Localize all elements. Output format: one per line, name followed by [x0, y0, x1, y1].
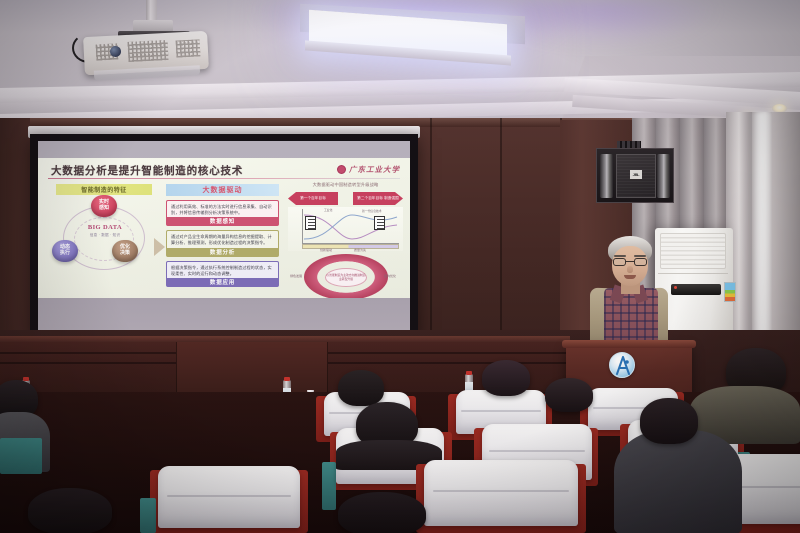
big-data-center-label: BIG DATA	[76, 224, 134, 231]
slide-divider	[48, 178, 400, 179]
ac-display-panel[interactable]	[671, 284, 721, 295]
ring-label: 创新驱动	[320, 248, 332, 252]
audience-seat	[424, 460, 578, 526]
projector-mount-pole	[146, 0, 157, 22]
bottle-cap-icon	[466, 371, 472, 375]
ceiling-glow-secondary	[520, 0, 720, 48]
chart-doc-icon-right	[374, 216, 385, 230]
cycle-node-dynamic-execution: 动态执行	[52, 240, 78, 262]
presentation-slide: 大数据分析是提升智能制造的核心技术 广东工业大学 智能制造的特征 实时感知 优化…	[38, 158, 410, 310]
slide-box-label: 数据感知	[167, 217, 278, 225]
slide-box-text: 根据决策指令，通过执行系统控制制造过程的状态，实现柔性、实时的运行和动态调整。	[171, 265, 274, 277]
big-data-center-sublabel: 信息 · 数据 · 知识	[76, 233, 134, 238]
projector-vent-icon	[176, 39, 201, 57]
conference-hall-photo: JBL 大数据分析是提升智能制造的核心技术 广东工业大学 智能制造的特征	[0, 0, 800, 533]
audience-seat	[158, 466, 300, 528]
audience-head	[28, 488, 112, 533]
slide-box-label: 数据应用	[167, 278, 278, 286]
slide-box-data-application: 根据决策指令，通过执行系统控制制造过程的状态，实现柔性、实时的运行和动态调整。 …	[166, 261, 279, 287]
glasses-lens-right	[634, 258, 647, 266]
slide-right-column: 大数据驱动中国制造转型升级战略 第一个百年目标 第二个百年目标 制造强国	[288, 182, 403, 304]
bottle-cap-icon	[284, 377, 290, 381]
projector-vent-icon	[128, 40, 169, 62]
chart-note-right: 新一代信息技术	[362, 209, 382, 213]
strategy-ring-center: 以智能制造为主攻方向推进制造业转型升级	[325, 268, 367, 287]
seat-frame-accent	[322, 462, 336, 510]
presenter	[580, 236, 678, 354]
slide-box-data-sensing: 通过利用高效、标准的方法实时进行信息采集、自动识别，并将信息传输到分析决策系统中…	[166, 200, 279, 226]
university-seal-icon	[337, 165, 346, 174]
dais-center-panel	[176, 342, 328, 396]
slide-logo-text: 广东工业大学	[349, 164, 400, 175]
slide-box-label: 数据分析	[167, 248, 278, 256]
speaker-brand-badge: JBL	[630, 170, 642, 179]
slide-mid-header: 大数据驱动	[166, 184, 279, 196]
slide-left-column: 智能制造的特征 实时感知 优化决策 动态执行 BIG DATA 信息 · 数据 …	[50, 184, 158, 302]
presenter-brow-right	[634, 255, 646, 257]
seat-frame-accent	[0, 438, 42, 474]
cycle-node-realtime-sensing: 实时感知	[91, 195, 117, 217]
glasses-lens-left	[613, 258, 626, 266]
projection-screen-blank-area	[38, 298, 410, 331]
slide-box-data-analysis: 通过对产品全生命周期的海量异构信息的挖掘提取、计算分析、推理预测，形成优化制造过…	[166, 230, 279, 256]
ring-label: 结构优化	[384, 274, 396, 278]
chart-curve-label: 工业化	[324, 208, 332, 212]
university-emblem	[609, 352, 635, 378]
slide-left-header: 智能制造的特征	[56, 184, 152, 195]
slide-mid-column: 大数据驱动 通过利用高效、标准的方法实时进行信息采集、自动识别，并将信息传输到分…	[166, 184, 279, 287]
audience-head	[338, 370, 384, 406]
emblem-figure-icon	[614, 356, 632, 376]
arrow-left-goal: 第一个百年目标	[288, 192, 338, 205]
projection-screen-surface: 大数据分析是提升智能制造的核心技术 广东工业大学 智能制造的特征 实时感知 优化…	[38, 141, 410, 331]
audience-head	[640, 398, 698, 444]
transition-curve-chart: 工业化 新一代信息技术	[288, 207, 403, 251]
chart-phase-band	[302, 244, 399, 249]
glasses-icon	[613, 258, 647, 266]
audience-shoulders	[614, 430, 742, 533]
arrow-right-goal: 第二个百年目标 制造强国	[353, 192, 403, 205]
ring-label: 绿色发展	[290, 274, 302, 278]
glasses-bridge	[626, 261, 634, 262]
slide-box-text: 通过利用高效、标准的方法实时进行信息采集、自动识别，并将信息传输到分析决策系统中…	[171, 204, 274, 216]
speaker-side-cylinder	[600, 154, 613, 198]
seat-frame-accent	[140, 498, 156, 533]
ac-energy-label	[724, 282, 736, 302]
audience-head	[482, 360, 530, 396]
strategy-ring-diagram: 以智能制造为主攻方向推进制造业转型升级 创新驱动 质量为先 绿色发展 结构优化 …	[304, 254, 388, 300]
projection-screen: 大数据分析是提升智能制造的核心技术 广东工业大学 智能制造的特征 实时感知 优化…	[30, 134, 418, 338]
presenter-brow-left	[614, 255, 626, 257]
slide-university-logo: 广东工业大学	[337, 164, 400, 175]
podium-top-surface	[562, 340, 696, 348]
audience-head	[338, 492, 426, 533]
slide-title: 大数据分析是提升智能制造的核心技术	[51, 163, 243, 178]
chart-doc-icon-left	[305, 216, 316, 230]
strategy-arrow-row: 第一个百年目标 第二个百年目标 制造强国	[288, 192, 403, 205]
flow-chevron-icon	[154, 238, 165, 256]
slide-box-text: 通过对产品全生命周期的海量异构信息的挖掘提取、计算分析、推理预测，形成优化制造过…	[171, 234, 274, 246]
slide-right-header: 大数据驱动中国制造转型升级战略	[288, 182, 403, 188]
speaker-side-cylinder	[657, 154, 670, 198]
cycle-node-optimized-decision: 优化决策	[112, 240, 138, 262]
ring-label: 质量为先	[354, 248, 366, 252]
audience-head	[545, 378, 593, 412]
presenter-nose	[627, 266, 633, 273]
